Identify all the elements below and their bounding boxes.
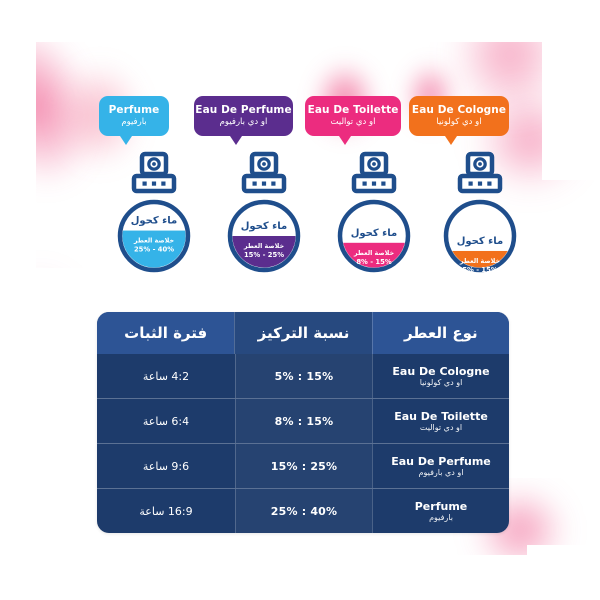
bubble-tail-icon [445, 136, 457, 145]
duration-value: 16:9 ساعة [139, 505, 192, 518]
background-mask [0, 555, 600, 600]
infographic-canvas: PerfumeبارفيومEau De Perfumeاو دي بارفيو… [0, 0, 600, 600]
bottle-essence-label: خلاصة العطر [243, 242, 285, 250]
perfume-bottle-eau-de-toilette: ماء كحولخلاصة العطر8% - 15% [324, 146, 424, 276]
bottle-water-alcohol-label: ماء كحول [241, 221, 288, 232]
category-bubble-perfume[interactable]: Perfumeبارفيوم [99, 96, 169, 136]
perfume-name-ar: او دي بارفيوم [419, 468, 464, 478]
duration-value: 4:2 ساعة [143, 370, 189, 383]
cell-concentration: 5% : 15% [235, 354, 372, 398]
background-mask [0, 0, 600, 42]
cell-duration: 4:2 ساعة [97, 354, 235, 398]
perfume-name-ar: او دي توالیت [420, 423, 462, 433]
bubble-label-ar: بارفيوم [121, 117, 146, 128]
perfume-name-en: Eau De Cologne [392, 365, 489, 378]
cell-concentration: 15% : 25% [235, 444, 372, 488]
bubble-tail-icon [120, 136, 132, 145]
concentration-value: 8% : 15% [275, 415, 334, 428]
cell-concentration: 25% : 40% [235, 489, 372, 533]
category-bubble-eau-de-cologne[interactable]: Eau De Cologneاو دي كولونيا [409, 96, 509, 136]
concentration-value: 5% : 15% [275, 370, 334, 383]
bottle-essence-label: خلاصة العطر [133, 237, 175, 245]
category-bubble-eau-de-toilette[interactable]: Eau De Toiletteاو دي توالیت [305, 96, 401, 136]
concentration-value: 15% : 25% [271, 460, 338, 473]
cell-duration: 16:9 ساعة [97, 489, 235, 533]
table-body: 4:2 ساعة5% : 15%Eau De Cologneاو دي كولو… [97, 354, 509, 533]
category-bubble-eau-de-perfume[interactable]: Eau De Perfumeاو دي بارفيوم [194, 96, 293, 136]
bottle-water-alcohol-label: ماء كحول [351, 228, 398, 239]
perfume-name-en: Eau De Perfume [391, 455, 491, 468]
bottle-concentration-range: 15% - 25% [244, 251, 284, 259]
table-row: 6:4 ساعة8% : 15%Eau De Toiletteاو دي توا… [97, 398, 509, 443]
comparison-table: فترة الثبات نسبة التركيز نوع العطر 4:2 س… [97, 312, 509, 533]
duration-value: 6:4 ساعة [143, 415, 189, 428]
perfume-bottle-row: ماء كحولخلاصة العطر25% - 40%ماء كحولخلاص… [0, 146, 600, 276]
cell-perfume-type: Eau De Perfumeاو دي بارفيوم [372, 444, 509, 488]
perfume-name-ar: او دي كولونيا [420, 378, 463, 388]
duration-value: 9:6 ساعة [143, 460, 189, 473]
bottle-essence-label: خلاصة العطر [353, 249, 395, 257]
bubble-tail-icon [339, 136, 351, 145]
bubble-label-en: Eau De Cologne [412, 104, 506, 116]
cell-duration: 6:4 ساعة [97, 399, 235, 443]
column-header-duration: فترة الثبات [97, 312, 234, 354]
background-mask [527, 545, 600, 600]
bubble-label-en: Eau De Perfume [195, 104, 291, 116]
bottle-water-alcohol-label: ماء كحول [131, 216, 178, 227]
perfume-bottle-perfume: ماء كحولخلاصة العطر25% - 40% [104, 146, 204, 276]
bottle-water-alcohol-label: ماء كحول [457, 236, 504, 247]
table-row: 4:2 ساعة5% : 15%Eau De Cologneاو دي كولو… [97, 354, 509, 398]
bubble-label-ar: او دي توالیت [331, 117, 376, 128]
bottle-concentration-range: 5% - 15% [462, 266, 498, 274]
bubble-label-ar: او دي كولونيا [436, 117, 481, 128]
concentration-value: 25% : 40% [271, 505, 338, 518]
bubble-label-ar: او دي بارفيوم [220, 117, 268, 128]
background-mask [0, 0, 36, 600]
cell-concentration: 8% : 15% [235, 399, 372, 443]
bubble-label-en: Perfume [109, 104, 160, 116]
perfume-bottle-eau-de-cologne: ماء كحولخلاصة العطر5% - 15% [430, 146, 530, 276]
category-label-row: PerfumeبارفيومEau De Perfumeاو دي بارفيو… [0, 96, 600, 140]
cell-perfume-type: Eau De Cologneاو دي كولونيا [372, 354, 509, 398]
perfume-name-en: Perfume [415, 500, 468, 513]
table-header-row: فترة الثبات نسبة التركيز نوع العطر [97, 312, 509, 354]
bottle-concentration-range: 25% - 40% [134, 246, 174, 254]
column-header-concentration: نسبة التركيز [234, 312, 371, 354]
bottle-essence-label: خلاصة العطر [459, 257, 501, 265]
bubble-label-en: Eau De Toilette [308, 104, 399, 116]
perfume-name-ar: بارفيوم [429, 513, 453, 523]
cell-perfume-type: Perfumeبارفيوم [372, 489, 509, 533]
cell-duration: 9:6 ساعة [97, 444, 235, 488]
cell-perfume-type: Eau De Toiletteاو دي توالیت [372, 399, 509, 443]
perfume-bottle-eau-de-perfume: ماء كحولخلاصة العطر15% - 25% [214, 146, 314, 276]
bottle-concentration-range: 8% - 15% [356, 258, 392, 266]
table-row: 16:9 ساعة25% : 40%Perfumeبارفيوم [97, 488, 509, 533]
bubble-tail-icon [230, 136, 242, 145]
column-header-type: نوع العطر [372, 312, 509, 354]
perfume-name-en: Eau De Toilette [394, 410, 488, 423]
table-row: 9:6 ساعة15% : 25%Eau De Perfumeاو دي بار… [97, 443, 509, 488]
